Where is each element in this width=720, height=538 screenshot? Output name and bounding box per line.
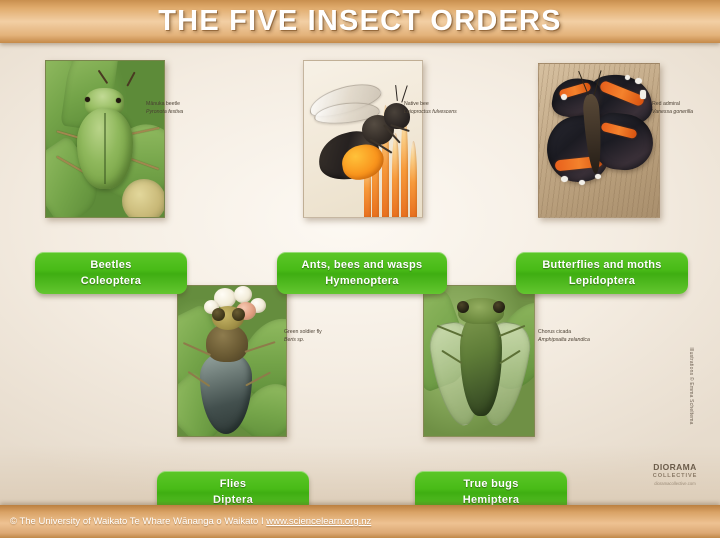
poster-header: THE FIVE INSECT ORDERS: [0, 0, 720, 43]
diorama-collective-logo[interactable]: DIORAMA COLLECTIVE dioramacollective.com: [642, 462, 708, 487]
copyright-text: © The University of Waikato Te Whare Wān…: [10, 516, 266, 527]
sciencelearn-link[interactable]: www.sciencelearn.org.nz: [266, 516, 371, 527]
order-button-lepidoptera[interactable]: Butterflies and moths Lepidoptera: [516, 252, 688, 294]
footer-copyright: © The University of Waikato Te Whare Wān…: [0, 516, 371, 527]
caption-hemiptera: Chorus cicada Amphipsalta zelandica: [538, 328, 590, 344]
logo-url-text: dioramacollective.com: [642, 480, 708, 487]
red-admiral-illustration: [538, 63, 660, 218]
caption-lepidoptera: Red admiral Vanessa gonerilla: [652, 100, 693, 116]
page-title: THE FIVE INSECT ORDERS: [158, 5, 561, 38]
chorus-cicada-illustration: [423, 285, 535, 437]
manuka-beetle-illustration: [45, 60, 165, 218]
illustration-credit: Illustrations © Emma Scheltema: [688, 331, 694, 441]
poster-footer: © The University of Waikato Te Whare Wān…: [0, 505, 720, 538]
logo-main-text: DIORAMA: [642, 462, 708, 472]
caption-diptera: Green soldier fly Beris sp.: [284, 328, 322, 344]
logo-sub-text: COLLECTIVE: [642, 472, 708, 480]
native-bee-illustration: [303, 60, 423, 218]
poster-body: Mānuka beetle Pyronota festiva Beetles C…: [0, 43, 720, 505]
caption-hymenoptera: Native bee Leioproctus fulvescens: [404, 100, 457, 116]
order-button-hymenoptera[interactable]: Ants, bees and wasps Hymenoptera: [277, 252, 447, 294]
insect-orders-poster: THE FIVE INSECT ORDERS: [0, 0, 720, 538]
green-soldier-fly-illustration: [177, 285, 287, 437]
order-button-coleoptera[interactable]: Beetles Coleoptera: [35, 252, 187, 294]
caption-beetles: Mānuka beetle Pyronota festiva: [146, 100, 183, 116]
